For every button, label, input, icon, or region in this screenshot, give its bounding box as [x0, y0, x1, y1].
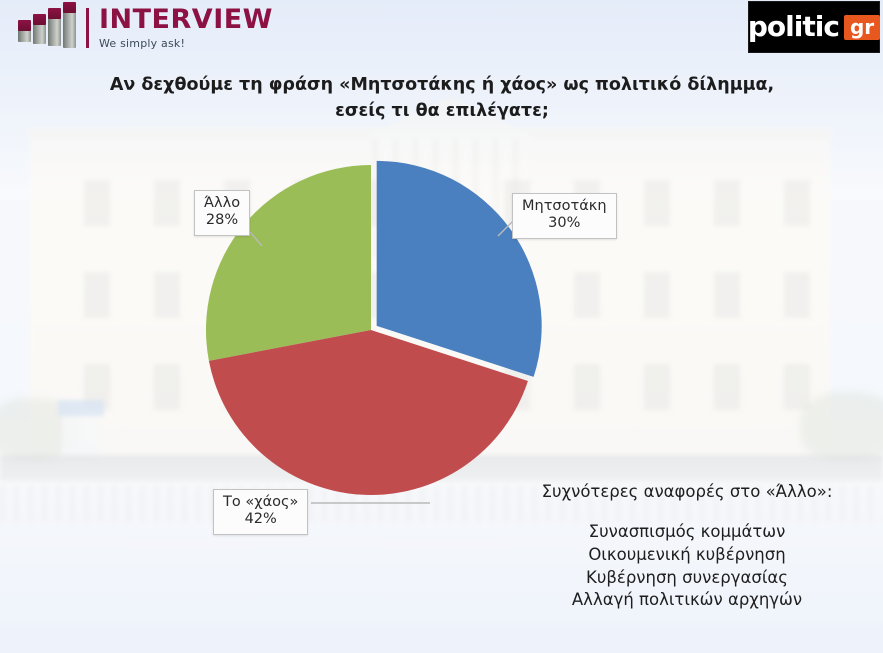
other-mentions-list: Συνασπισμός κομμάτων Οικουμενική κυβέρνη… [527, 521, 847, 612]
data-label-mitsotaki-value: 30% [522, 215, 607, 232]
data-label-mitsotaki-name: Μητσοτάκη [522, 198, 607, 214]
list-item: Συνασπισμός κομμάτων [527, 521, 847, 544]
data-label-allo-value: 28% [204, 212, 240, 229]
data-label-mitsotaki[interactable]: Μητσοτάκη 30% [512, 193, 617, 239]
slide-canvas: INTERVIEW We simply ask! politic gr Αν δ… [0, 0, 883, 653]
data-label-chaos[interactable]: Το «χάος» 42% [213, 489, 308, 535]
other-mentions-heading: Συχνότερες αναφορές στο «Άλλο»: [527, 482, 847, 501]
data-label-allo-name: Άλλο [204, 195, 240, 211]
list-item: Αλλαγή πολιτικών αρχηγών [527, 589, 847, 612]
other-mentions-block: Συχνότερες αναφορές στο «Άλλο»: Συνασπισ… [527, 482, 847, 612]
leader-allo [250, 232, 262, 246]
data-label-chaos-value: 42% [223, 511, 298, 528]
data-label-chaos-name: Το «χάος» [223, 494, 298, 510]
data-label-allo[interactable]: Άλλο 28% [194, 190, 250, 236]
list-item: Κυβέρνηση συνεργασίας [527, 567, 847, 590]
list-item: Οικουμενική κυβέρνηση [527, 544, 847, 567]
leader-mitsotaki [498, 222, 512, 236]
